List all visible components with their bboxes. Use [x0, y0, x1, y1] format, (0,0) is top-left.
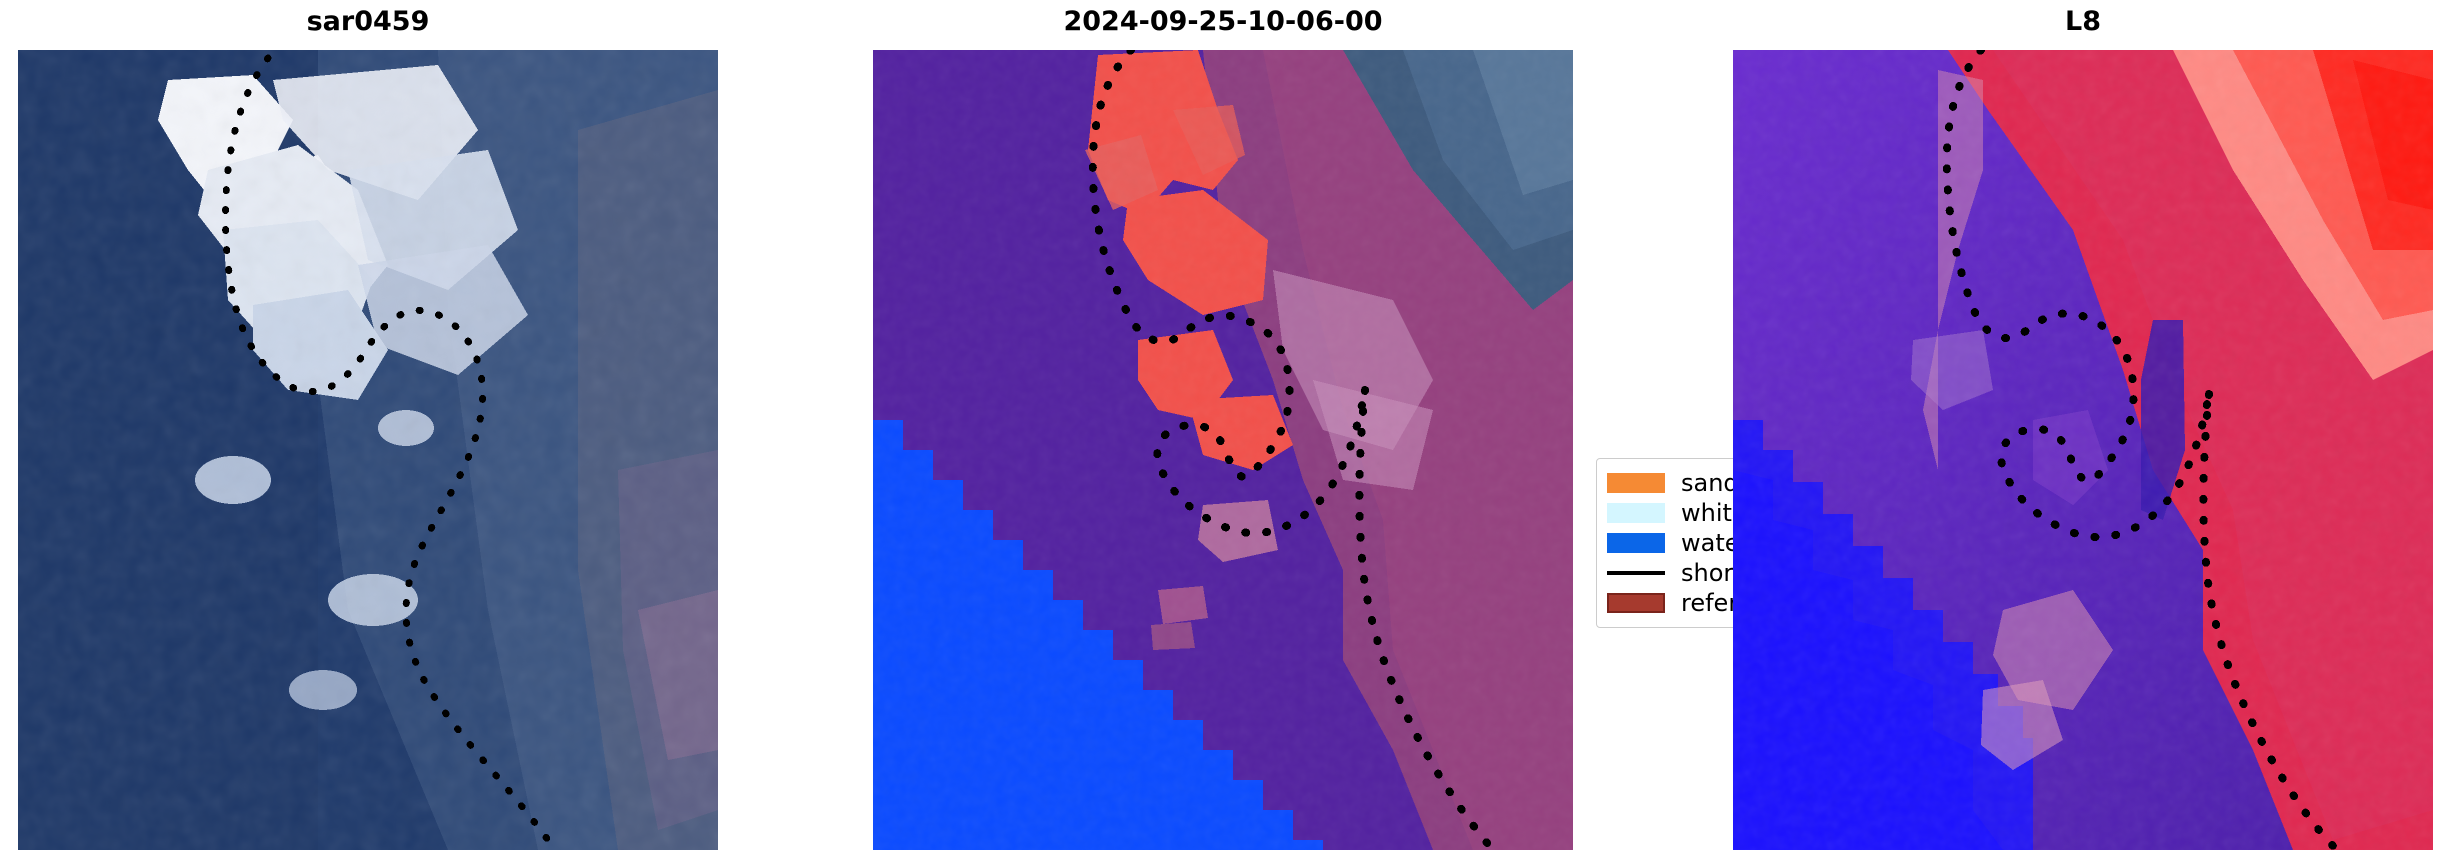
- panel-title-sar: sar0459: [18, 6, 718, 38]
- legend-label-sand: sand: [1681, 468, 1739, 498]
- shoreline-line-marker: [1607, 571, 1665, 575]
- whitewater-swatch: [1607, 503, 1665, 523]
- figure-canvas: sar0459: [0, 0, 2460, 864]
- classification-image: [873, 50, 1573, 850]
- l8-image: [1733, 50, 2433, 850]
- reference-shoreline-swatch: [1607, 593, 1665, 613]
- panel-title-l8: L8: [1733, 6, 2433, 38]
- water-swatch: [1607, 533, 1665, 553]
- panel-title-classification: 2024-09-25-10-06-00: [873, 6, 1573, 38]
- sand-swatch: [1607, 473, 1665, 493]
- sar-image: [18, 50, 718, 850]
